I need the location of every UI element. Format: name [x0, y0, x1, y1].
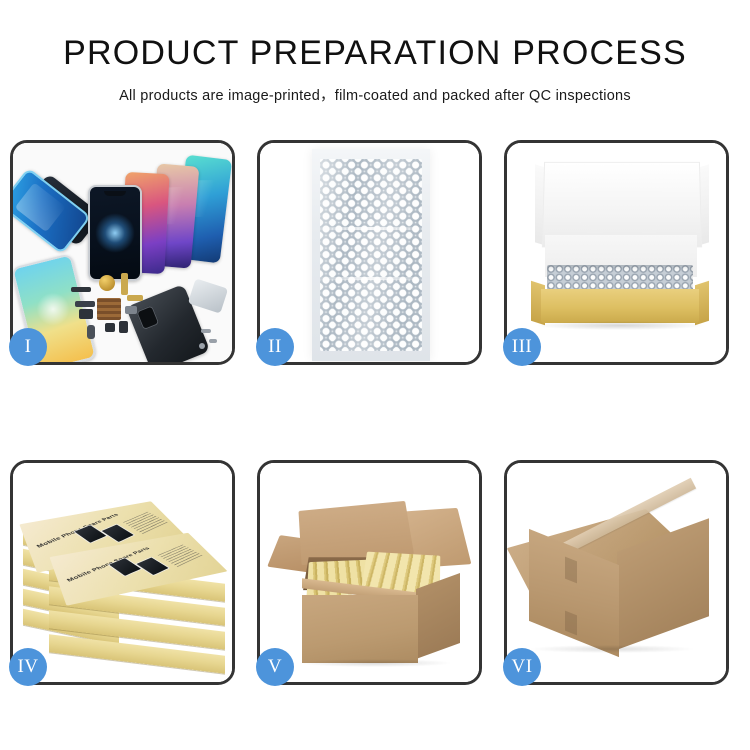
- earpiece-part-icon: [71, 287, 91, 292]
- process-step-3[interactable]: III: [504, 140, 729, 365]
- bubble-wrap-bubbles-icon: [320, 159, 422, 351]
- page-header: PRODUCT PREPARATION PROCESS All products…: [0, 0, 750, 105]
- small-part-2-icon: [119, 321, 128, 333]
- carton-seam-1-icon: [565, 557, 577, 584]
- chip-part-icon: [97, 298, 121, 320]
- small-part-4-icon: [125, 306, 137, 314]
- open-inner-box-illustration: [507, 143, 726, 362]
- page-title: PRODUCT PREPARATION PROCESS: [0, 34, 750, 72]
- flex-cable-2-part-icon: [127, 295, 143, 301]
- step-2-badge: II: [256, 328, 294, 366]
- small-part-3-icon: [87, 325, 95, 339]
- phone-parts-illustration: [13, 143, 232, 362]
- step-3-badge: III: [503, 328, 541, 366]
- step-2-image: [260, 143, 479, 362]
- bubble-wrap-seam-2-icon: [320, 277, 422, 280]
- box-front-panel-icon: [541, 289, 699, 323]
- carton-front-panel-icon: [302, 595, 418, 663]
- process-step-2[interactable]: II: [257, 140, 482, 365]
- stacked-boxes-illustration: Mobile Phone Spare Parts Mobile Phone Sp…: [13, 463, 232, 682]
- sealed-carton-shadow-icon: [531, 645, 693, 653]
- step-5-image: [260, 463, 479, 682]
- carton-seam-2-icon: [565, 611, 577, 636]
- process-step-5[interactable]: V: [257, 460, 482, 685]
- screw-1-icon: [201, 329, 211, 333]
- step-4-image: Mobile Phone Spare Parts Mobile Phone Sp…: [13, 463, 232, 682]
- product-preparation-page: PRODUCT PREPARATION PROCESS All products…: [0, 0, 750, 750]
- bubble-wrap-illustration: [260, 143, 479, 362]
- carton-right-panel-icon: [416, 573, 460, 659]
- step-1-image: [13, 143, 232, 362]
- step-6-badge: VI: [503, 648, 541, 686]
- camera-module-part-icon: [79, 309, 93, 319]
- sealed-carton-illustration: [507, 463, 726, 682]
- process-step-6[interactable]: VI: [504, 460, 729, 685]
- step-4-badge: IV: [9, 648, 47, 686]
- small-part-1-icon: [105, 323, 115, 332]
- bubble-wrap-sheet-icon: [312, 149, 430, 361]
- carton-shadow-icon: [300, 659, 450, 667]
- speaker-part-icon: [99, 275, 115, 291]
- step-3-image: [507, 143, 726, 362]
- open-carton-illustration: [260, 463, 479, 682]
- process-step-1[interactable]: I: [10, 140, 235, 365]
- process-steps-grid: I II: [10, 140, 740, 685]
- step-1-badge: I: [9, 328, 47, 366]
- page-subtitle: All products are image-printed，film-coat…: [0, 84, 750, 105]
- screw-2-icon: [209, 339, 217, 343]
- repair-tool-icon: [188, 278, 228, 313]
- screw-3-icon: [199, 343, 205, 349]
- flex-cable-part-icon: [121, 273, 128, 295]
- step-6-image: [507, 463, 726, 682]
- box-shadow-icon: [537, 321, 703, 330]
- process-step-4[interactable]: Mobile Phone Spare Parts Mobile Phone Sp…: [10, 460, 235, 685]
- bubble-wrap-seam-1-icon: [320, 227, 422, 230]
- tempered-glass-screen-icon: [88, 185, 142, 281]
- connector-part-icon: [75, 301, 95, 307]
- step-5-badge: V: [256, 648, 294, 686]
